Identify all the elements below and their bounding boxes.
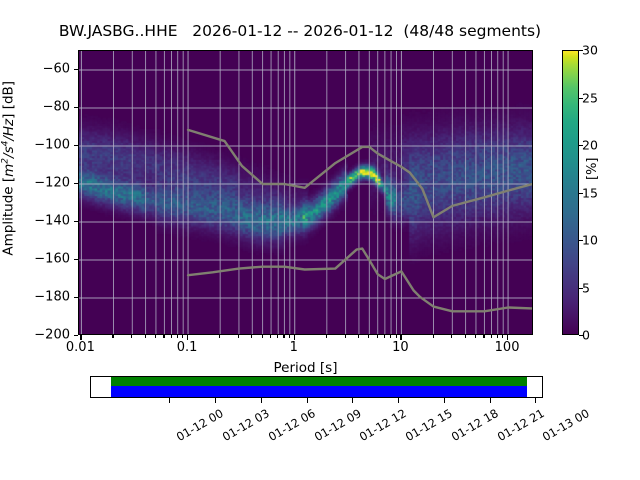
colorbar-tick-mark (579, 145, 583, 146)
timeline-tick-label: 01-12 12 (357, 406, 409, 444)
colorbar-tick-mark (579, 335, 583, 336)
colorbar-tick-label: 30 (582, 43, 598, 58)
ppsd-overlay (79, 51, 533, 335)
x-tick-mark (112, 335, 113, 338)
x-tick-mark (283, 335, 284, 338)
x-tick-mark (251, 335, 252, 338)
x-tick-mark (294, 335, 295, 340)
y-tick-mark (74, 107, 78, 108)
y-tick-mark (74, 335, 78, 336)
colorbar-tick-label: 5 (582, 280, 590, 295)
x-tick-mark (326, 335, 327, 338)
colorbar[interactable] (562, 50, 579, 335)
colorbar-tick-mark (579, 50, 583, 51)
y-tick-mark (74, 183, 78, 184)
timeline-tick-mark (169, 398, 170, 403)
timeline-tick-label: 01-12 18 (449, 406, 501, 444)
timeline-tick-mark (444, 398, 445, 403)
timeline-tick-mark (307, 398, 308, 403)
y-tick-label: −200 (0, 328, 70, 343)
x-tick-mark (238, 335, 239, 338)
x-tick-mark (270, 335, 271, 338)
x-tick-label: 0.01 (66, 340, 95, 355)
x-tick-mark (131, 335, 132, 338)
x-tick-mark (384, 335, 385, 338)
y-tick-mark (74, 69, 78, 70)
colorbar-tick-label: 0 (582, 328, 590, 343)
x-tick-mark (451, 335, 452, 338)
x-tick-mark (182, 335, 183, 338)
x-tick-mark (80, 335, 81, 340)
colorbar-tick-label: 15 (582, 185, 598, 200)
timeline-tick-mark (215, 398, 216, 403)
x-tick-label: 100 (495, 340, 520, 355)
data-coverage-blue (111, 386, 527, 397)
timeline-tick-label: 01-12 09 (311, 406, 363, 444)
x-tick-mark (400, 335, 401, 340)
x-tick-mark (491, 335, 492, 338)
timeline-tick-mark (261, 398, 262, 403)
x-tick-mark (368, 335, 369, 338)
x-tick-label: 10 (392, 340, 409, 355)
ppsd-figure: BW.JASBG..HHE 2026-01-12 -- 2026-01-12 (… (0, 0, 640, 480)
y-tick-mark (74, 221, 78, 222)
y-axis-label: Amplitude [m2/s4/Hz] [dB] (0, 38, 16, 298)
timeline-tick-mark (398, 398, 399, 403)
x-tick-mark (497, 335, 498, 338)
x-tick-mark (155, 335, 156, 338)
x-tick-mark (475, 335, 476, 338)
x-tick-mark (145, 335, 146, 338)
x-tick-mark (219, 335, 220, 338)
data-coverage-green (111, 377, 527, 386)
y-tick-mark (74, 259, 78, 260)
x-tick-mark (483, 335, 484, 338)
x-tick-mark (277, 335, 278, 338)
x-tick-mark (465, 335, 466, 338)
x-tick-mark (171, 335, 172, 338)
x-tick-mark (163, 335, 164, 338)
timeline-tick-label: 01-13 00 (540, 406, 592, 444)
x-tick-mark (187, 335, 188, 340)
timeline-tick-label: 01-12 06 (266, 406, 318, 444)
x-tick-mark (433, 335, 434, 338)
x-axis-label: Period [s] (78, 360, 533, 376)
colorbar-tick-label: 25 (582, 90, 598, 105)
colorbar-tick-mark (579, 288, 583, 289)
x-tick-mark (377, 335, 378, 338)
timeline-tick-label: 01-12 15 (403, 406, 455, 444)
x-tick-mark (396, 335, 397, 338)
ppsd-axes[interactable] (78, 50, 533, 335)
timeline-tick-label: 01-12 00 (174, 406, 226, 444)
timeline-tick-label: 01-12 21 (494, 406, 546, 444)
timeline-tick-mark (535, 398, 536, 403)
x-tick-mark (507, 335, 508, 340)
colorbar-tick-mark (579, 193, 583, 194)
y-tick-mark (74, 297, 78, 298)
x-tick-mark (262, 335, 263, 338)
x-tick-mark (177, 335, 178, 338)
x-tick-label: 1 (290, 340, 298, 355)
colorbar-tick-mark (579, 98, 583, 99)
colorbar-tick-label: 10 (582, 233, 598, 248)
x-tick-label: 0.1 (177, 340, 198, 355)
timeline-axes[interactable] (90, 376, 543, 398)
colorbar-tick-mark (579, 240, 583, 241)
x-tick-mark (390, 335, 391, 338)
x-tick-mark (502, 335, 503, 338)
y-tick-mark (74, 145, 78, 146)
timeline-tick-label: 01-12 03 (220, 406, 272, 444)
colorbar-label: [%] (585, 158, 600, 181)
x-tick-mark (289, 335, 290, 338)
x-tick-mark (345, 335, 346, 338)
x-tick-mark (358, 335, 359, 338)
timeline-tick-mark (490, 398, 491, 403)
timeline-tick-mark (352, 398, 353, 403)
colorbar-tick-label: 20 (582, 138, 598, 153)
plot-title: BW.JASBG..HHE 2026-01-12 -- 2026-01-12 (… (0, 22, 600, 40)
